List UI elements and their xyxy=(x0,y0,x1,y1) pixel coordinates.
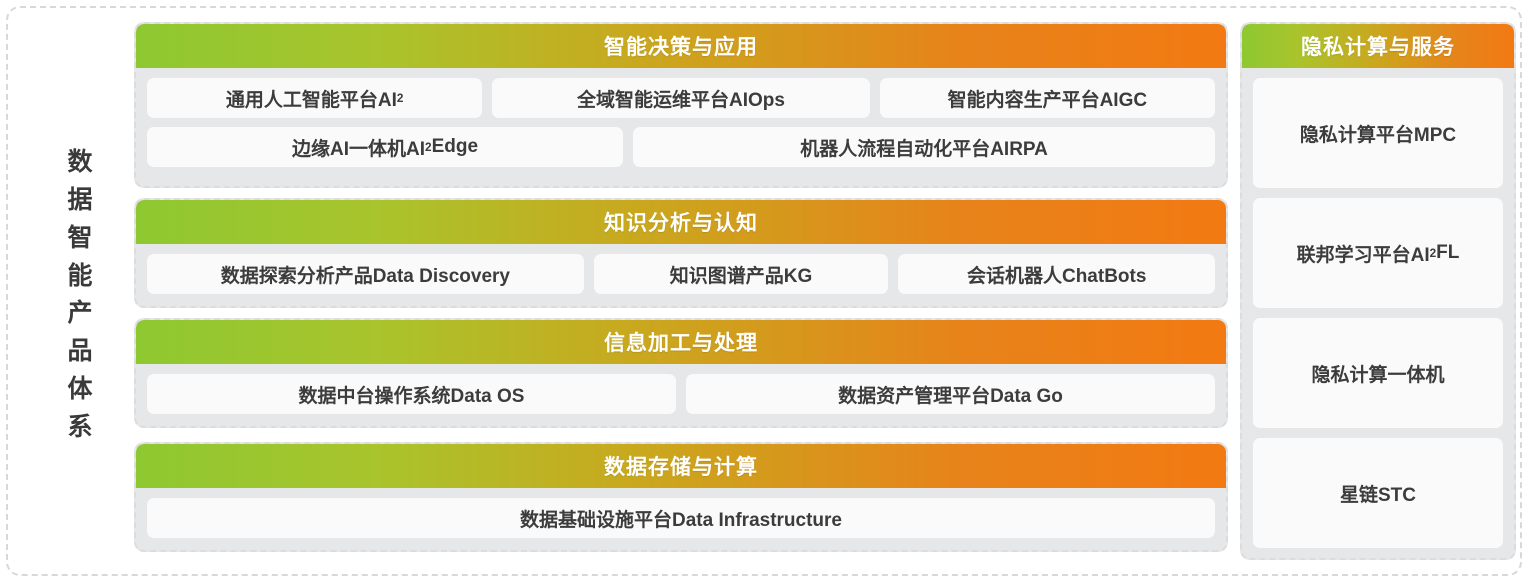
product-section: 知识分析与认知数据探索分析产品Data Discovery知识图谱产品KG会话机… xyxy=(134,198,1228,308)
left-axis-label-char: 能 xyxy=(67,264,92,289)
product-section-title: 信息加工与处理 xyxy=(136,320,1226,364)
product-row: 数据基础设施平台Data Infrastructure xyxy=(147,498,1215,538)
left-axis-label-char: 品 xyxy=(67,339,92,364)
privacy-computing-card[interactable]: 星链STC xyxy=(1253,438,1503,548)
left-axis-label-char: 产 xyxy=(67,301,92,326)
product-section-body: 数据基础设施平台Data Infrastructure xyxy=(136,488,1226,549)
privacy-computing-card[interactable]: 联邦学习平台AI2 FL xyxy=(1253,198,1503,308)
product-row: 数据中台操作系统Data OS数据资产管理平台Data Go xyxy=(147,374,1215,414)
privacy-computing-card[interactable]: 隐私计算一体机 xyxy=(1253,318,1503,428)
left-axis-label-char: 据 xyxy=(67,188,92,213)
product-card[interactable]: 数据探索分析产品Data Discovery xyxy=(147,254,584,294)
product-row: 数据探索分析产品Data Discovery知识图谱产品KG会话机器人ChatB… xyxy=(147,254,1215,294)
product-sections-column: 智能决策与应用通用人工智能平台AI2全域智能运维平台AIOps智能内容生产平台A… xyxy=(134,22,1228,560)
product-section: 信息加工与处理数据中台操作系统Data OS数据资产管理平台Data Go xyxy=(134,318,1228,428)
product-section-body: 数据中台操作系统Data OS数据资产管理平台Data Go xyxy=(136,364,1226,425)
product-card[interactable]: 知识图谱产品KG xyxy=(594,254,889,294)
product-section-body: 数据探索分析产品Data Discovery知识图谱产品KG会话机器人ChatB… xyxy=(136,244,1226,305)
product-card[interactable]: 数据中台操作系统Data OS xyxy=(147,374,676,414)
privacy-computing-panel: 隐私计算与服务 隐私计算平台MPC联邦学习平台AI2 FL隐私计算一体机星链ST… xyxy=(1240,22,1516,560)
product-section-title: 数据存储与计算 xyxy=(136,444,1226,488)
privacy-computing-item-list: 隐私计算平台MPC联邦学习平台AI2 FL隐私计算一体机星链STC xyxy=(1242,68,1514,559)
product-card[interactable]: 全域智能运维平台AIOps xyxy=(492,78,869,118)
product-section-body: 通用人工智能平台AI2全域智能运维平台AIOps智能内容生产平台AIGC边缘AI… xyxy=(136,68,1226,178)
privacy-computing-card[interactable]: 隐私计算平台MPC xyxy=(1253,78,1503,188)
product-card[interactable]: 边缘AI一体机AI2 Edge xyxy=(147,127,623,167)
left-axis-label-char: 数 xyxy=(67,150,92,175)
product-card[interactable]: 会话机器人ChatBots xyxy=(898,254,1215,294)
left-axis-label-char: 体 xyxy=(67,377,92,402)
product-section: 数据存储与计算数据基础设施平台Data Infrastructure xyxy=(134,442,1228,552)
product-card[interactable]: 机器人流程自动化平台AIRPA xyxy=(633,127,1215,167)
product-row: 边缘AI一体机AI2 Edge机器人流程自动化平台AIRPA xyxy=(147,127,1215,167)
product-card[interactable]: 数据基础设施平台Data Infrastructure xyxy=(147,498,1215,538)
left-axis-label-char: 系 xyxy=(67,415,92,440)
product-card[interactable]: 通用人工智能平台AI2 xyxy=(147,78,482,118)
product-row: 通用人工智能平台AI2全域智能运维平台AIOps智能内容生产平台AIGC xyxy=(147,78,1215,118)
left-axis-label-char: 智 xyxy=(67,226,92,251)
left-axis-label: 数据智能产品体系 xyxy=(40,150,120,440)
product-section-title: 智能决策与应用 xyxy=(136,24,1226,68)
product-card[interactable]: 智能内容生产平台AIGC xyxy=(880,78,1215,118)
product-card[interactable]: 数据资产管理平台Data Go xyxy=(686,374,1215,414)
privacy-computing-panel-title: 隐私计算与服务 xyxy=(1242,24,1514,68)
product-section-title: 知识分析与认知 xyxy=(136,200,1226,244)
product-section: 智能决策与应用通用人工智能平台AI2全域智能运维平台AIOps智能内容生产平台A… xyxy=(134,22,1228,188)
